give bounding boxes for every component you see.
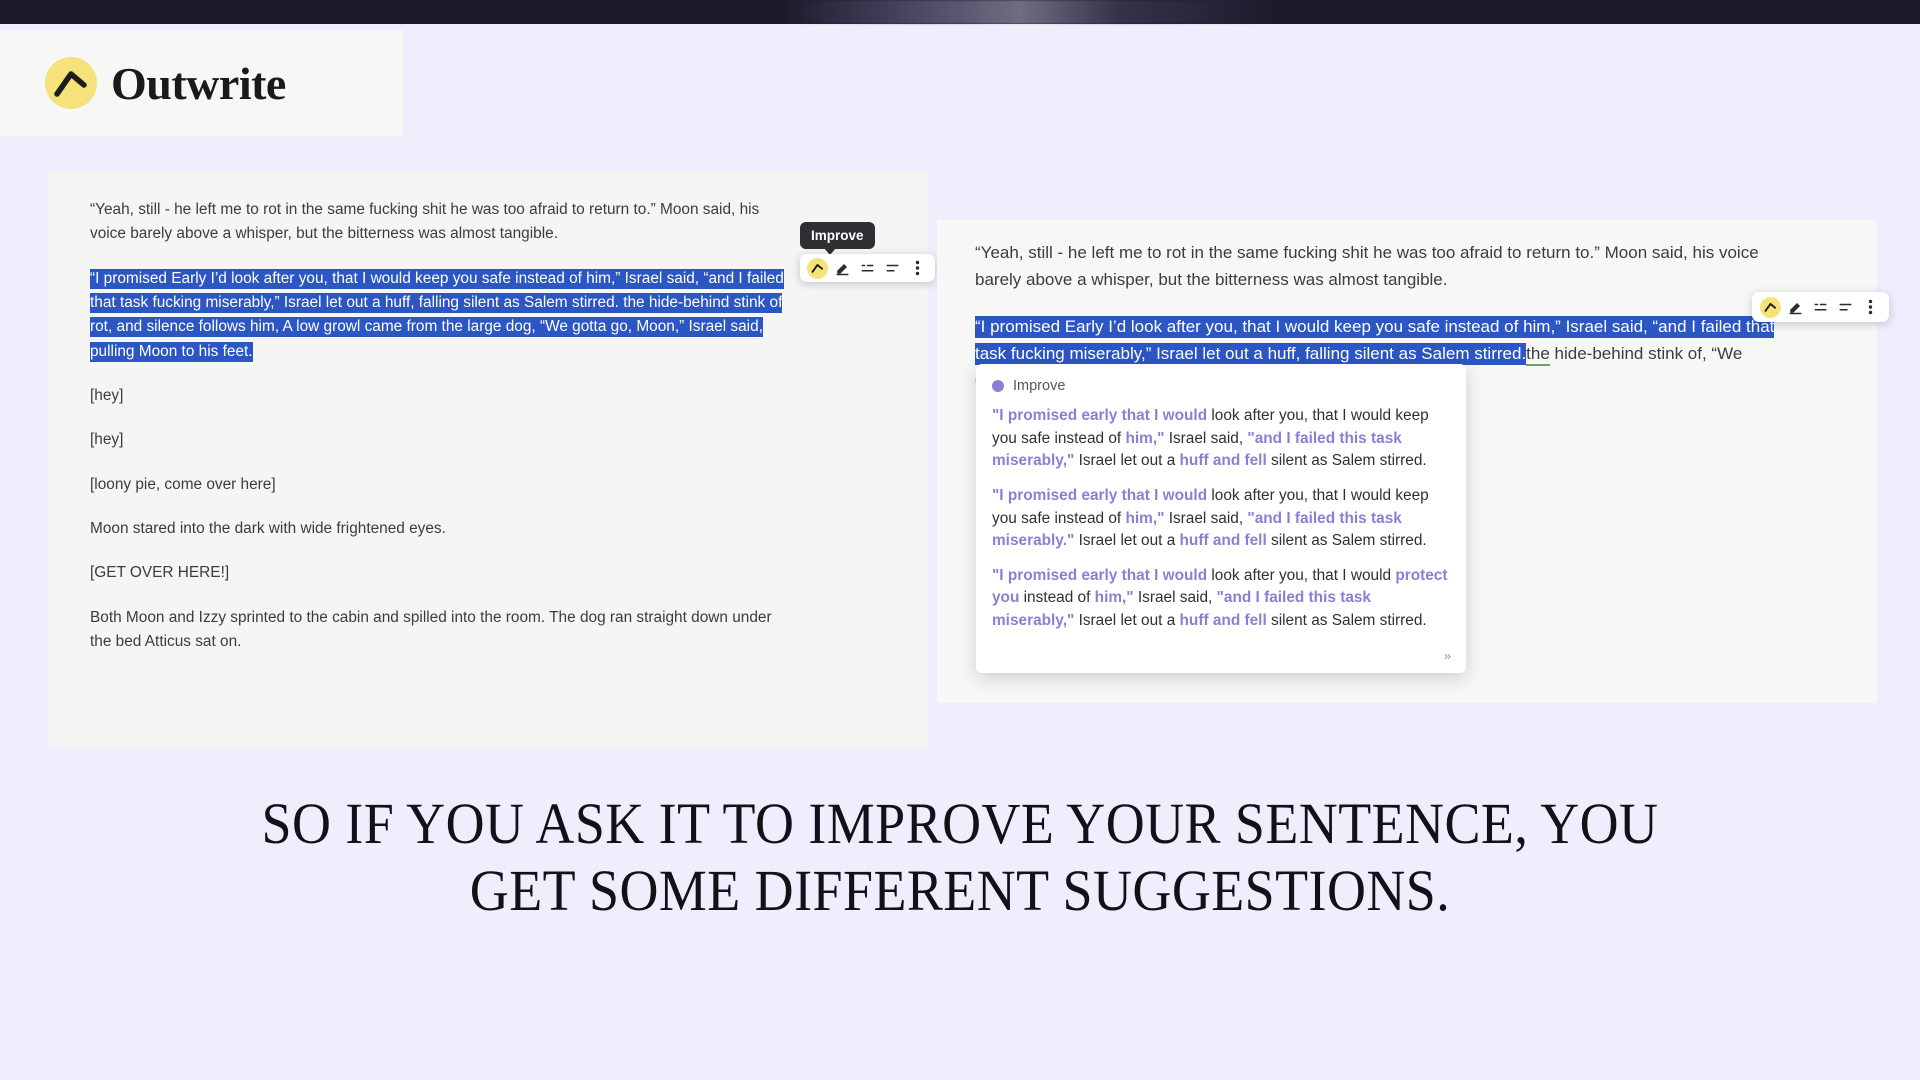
suggestion-plain-text: Israel let out a	[1079, 532, 1180, 549]
suggestion-changed-text: huff and fell	[1180, 452, 1271, 469]
suggestion-changed-text: him,"	[1125, 430, 1168, 447]
suggestion-plain-text: silent as Salem stirred.	[1271, 612, 1427, 629]
suggestion-plain-text: silent as Salem stirred.	[1271, 452, 1427, 469]
suggestion-item[interactable]: "I promised early that I would look afte…	[992, 485, 1450, 553]
rephrase-button[interactable]	[1785, 297, 1806, 318]
selected-paragraph[interactable]: “I promised Early I’d look after you, th…	[90, 267, 790, 364]
suggestion-changed-text: huff and fell	[1180, 532, 1271, 549]
suggestion-plain-text: Israel let out a	[1079, 452, 1180, 469]
left-document-panel[interactable]: “Yeah, still - he left me to rot in the …	[48, 172, 928, 747]
suggestion-item[interactable]: "I promised early that I would look afte…	[992, 565, 1450, 633]
improve-tooltip: Improve	[800, 222, 875, 249]
improve-button[interactable]	[1760, 297, 1781, 318]
paragraph: [hey]	[90, 428, 790, 452]
format-toolbar-left[interactable]	[800, 254, 935, 282]
suggestion-card-footer: ››	[992, 645, 1450, 663]
paragraph: Moon stared into the dark with wide frig…	[90, 517, 790, 541]
shorten-list-button[interactable]	[857, 258, 878, 279]
improve-dot-icon	[992, 380, 1004, 392]
suggestion-item[interactable]: "I promised early that I would look afte…	[992, 405, 1450, 473]
suggestion-plain-text: Israel said,	[1169, 510, 1248, 527]
improve-button[interactable]	[807, 258, 828, 279]
suggestion-changed-text: him,"	[1095, 589, 1138, 606]
suggestion-card-header: Improve	[992, 378, 1450, 394]
outwrite-logo-card: Outwrite	[0, 30, 403, 136]
expand-list-button[interactable]	[882, 258, 903, 279]
text-selection-highlight[interactable]: “I promised Early I’d look after you, th…	[90, 269, 784, 362]
paragraph: Both Moon and Izzy sprinted to the cabin…	[90, 606, 790, 655]
paragraph: [GET OVER HERE!]	[90, 561, 790, 585]
rephrase-button[interactable]	[832, 258, 853, 279]
resize-handle-icon[interactable]: ››	[1444, 649, 1450, 663]
suggestion-changed-text: "I promised early that I would	[992, 487, 1211, 504]
suggestion-changed-text: "I promised early that I would	[992, 407, 1211, 424]
paragraph: “Yeah, still - he left me to rot in the …	[975, 240, 1775, 294]
suggestion-plain-text: look after you, that I would	[1211, 567, 1395, 584]
grammar-suggestion-word[interactable]: the	[1526, 344, 1550, 366]
screenshot-stage: Outwrite “Yeah, still - he left me to ro…	[0, 0, 1920, 1080]
suggestion-plain-text: Israel said,	[1169, 430, 1248, 447]
paragraph: [loony pie, come over here]	[90, 473, 790, 497]
suggestion-plain-text: Israel said,	[1138, 589, 1217, 606]
paragraph-tail: hide-behind stink of	[1550, 344, 1702, 363]
expand-list-button[interactable]	[1835, 297, 1856, 318]
caption-line-1: SO IF YOU ASK IT TO IMPROVE YOUR SENTENC…	[67, 790, 1853, 857]
caption-line-2: GET SOME DIFFERENT SUGGESTIONS.	[67, 857, 1853, 924]
top-bar-sheen	[780, 0, 1280, 24]
suggestion-plain-text: silent as Salem stirred.	[1271, 532, 1427, 549]
video-caption: SO IF YOU ASK IT TO IMPROVE YOUR SENTENC…	[67, 790, 1853, 925]
suggestion-plain-text: instead of	[1024, 589, 1095, 606]
suggestion-card-title: Improve	[1013, 378, 1065, 394]
more-options-button[interactable]	[1860, 297, 1881, 318]
outwrite-wordmark: Outwrite	[111, 57, 286, 110]
paragraph: “Yeah, still - he left me to rot in the …	[90, 198, 790, 247]
suggestion-changed-text: "I promised early that I would	[992, 567, 1211, 584]
suggestion-changed-text: huff and fell	[1180, 612, 1271, 629]
outwrite-arrow-icon	[45, 57, 97, 109]
suggestion-changed-text: him,"	[1125, 510, 1168, 527]
shorten-list-button[interactable]	[1810, 297, 1831, 318]
paragraph: [hey]	[90, 384, 790, 408]
window-top-bar	[0, 0, 1920, 24]
more-options-button[interactable]	[907, 258, 928, 279]
suggestion-plain-text: Israel let out a	[1079, 612, 1180, 629]
format-toolbar-right[interactable]	[1752, 292, 1889, 322]
improve-suggestion-card[interactable]: Improve "I promised early that I would l…	[976, 364, 1466, 673]
